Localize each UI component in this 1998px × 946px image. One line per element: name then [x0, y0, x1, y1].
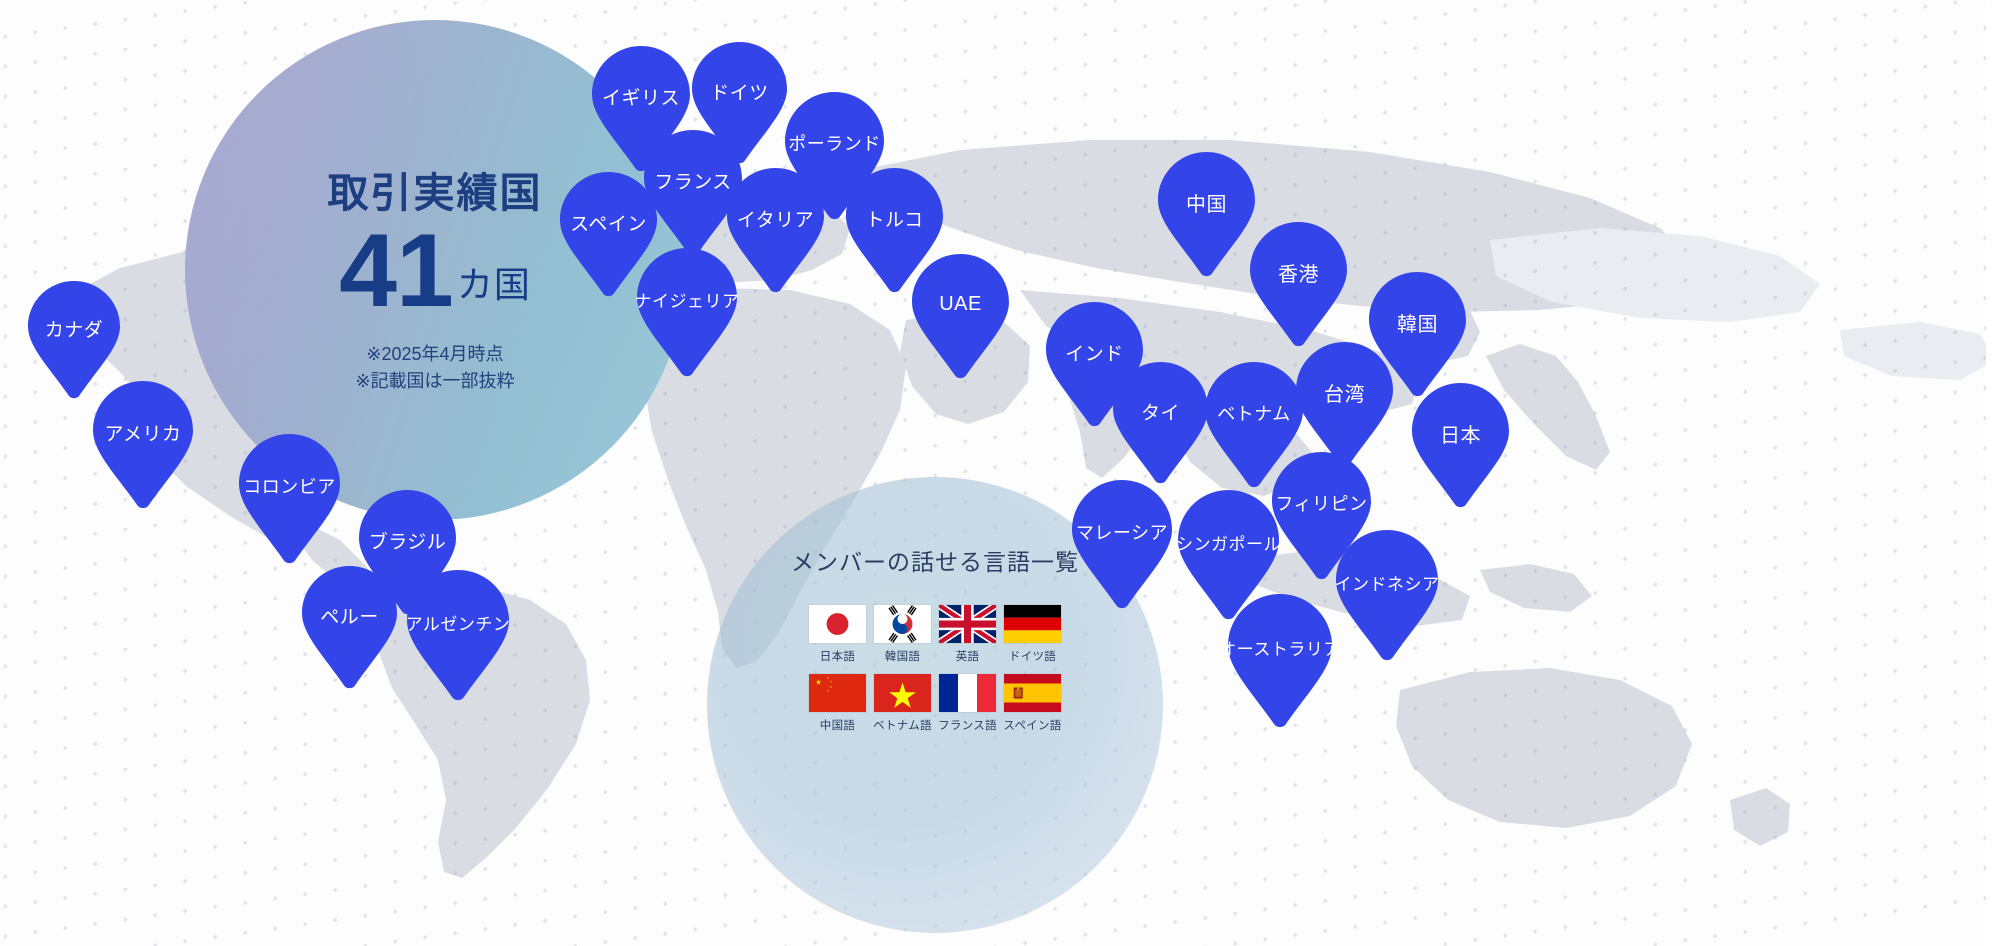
language-item-cn: 中国語 — [806, 674, 870, 733]
map-marker-icon — [1158, 152, 1255, 277]
stat-number: 41 — [339, 222, 453, 321]
right-white-margin — [1986, 0, 1998, 946]
language-item-vn: ベトナム語 — [871, 674, 935, 733]
language-label: ベトナム語 — [873, 717, 932, 733]
map-pin-香港[interactable]: 香港 — [1250, 222, 1347, 347]
language-label: 英語 — [956, 648, 980, 664]
language-flag-grid: 日本語 韓国語 英語ドイツ語 中国語 ベトナム語フランス語 — [806, 605, 1065, 733]
map-marker-icon — [637, 248, 737, 377]
gb-flag-icon — [939, 605, 996, 643]
stat-note-excerpt: ※記載国は一部抜粋 — [328, 368, 543, 395]
cn-flag-icon — [809, 674, 866, 712]
map-pin-ペルー[interactable]: ペルー — [302, 566, 397, 689]
language-item-es: スペイン語 — [1001, 674, 1065, 733]
map-pin-アルゼンチン[interactable]: アルゼンチン — [407, 570, 509, 701]
map-pin-ナイジェリア[interactable]: ナイジェリア — [637, 248, 737, 377]
global-map-infographic: 取引実績国 41 カ国 ※2025年4月時点 ※記載国は一部抜粋 メンバーの話せ… — [0, 0, 1998, 946]
map-marker-icon — [727, 168, 824, 293]
map-marker-icon — [239, 434, 340, 564]
vn-flag-icon — [874, 674, 931, 712]
fr-flag-icon — [939, 674, 996, 712]
map-pin-uae[interactable]: UAE — [912, 254, 1009, 379]
language-item-kr: 韓国語 — [871, 605, 935, 664]
language-label: 韓国語 — [885, 648, 920, 664]
map-marker-icon — [93, 381, 193, 509]
es-flag-icon — [1004, 674, 1061, 712]
map-marker-icon — [1228, 594, 1332, 728]
map-pin-マレーシア[interactable]: マレーシア — [1072, 480, 1172, 609]
map-marker-icon — [1113, 362, 1208, 484]
map-pin-中国[interactable]: 中国 — [1158, 152, 1255, 277]
language-label: 中国語 — [820, 717, 855, 733]
stat-unit: カ国 — [457, 256, 531, 321]
language-label: ドイツ語 — [1009, 648, 1056, 664]
map-pin-コロンビア[interactable]: コロンビア — [239, 434, 340, 564]
map-marker-icon — [1412, 383, 1509, 508]
language-item-de: ドイツ語 — [1001, 605, 1065, 664]
map-marker-icon — [912, 254, 1009, 379]
language-label: スペイン語 — [1003, 717, 1061, 733]
map-pin-オーストラリア[interactable]: オーストラリア — [1228, 594, 1332, 728]
language-item-gb: 英語 — [936, 605, 1000, 664]
map-marker-icon — [302, 566, 397, 689]
map-pin-アメリカ[interactable]: アメリカ — [93, 381, 193, 509]
de-flag-icon — [1004, 605, 1061, 643]
jp-flag-icon — [809, 605, 866, 643]
stat-notes: ※2025年4月時点 ※記載国は一部抜粋 — [328, 341, 543, 395]
language-list-title: メンバーの話せる言語一覧 — [791, 543, 1079, 577]
map-pin-インドネシア[interactable]: インドネシア — [1336, 530, 1438, 661]
language-item-fr: フランス語 — [936, 674, 1000, 733]
map-marker-icon — [1336, 530, 1438, 661]
map-marker-icon — [1296, 342, 1393, 467]
stat-note-date: ※2025年4月時点 — [328, 341, 543, 368]
map-pin-タイ[interactable]: タイ — [1113, 362, 1208, 484]
map-marker-icon — [407, 570, 509, 701]
map-marker-icon — [1072, 480, 1172, 609]
kr-flag-icon — [874, 605, 931, 643]
map-pin-イタリア[interactable]: イタリア — [727, 168, 824, 293]
map-marker-icon — [1250, 222, 1347, 347]
language-label: 日本語 — [820, 648, 855, 664]
stat-title: 取引実績国 — [328, 171, 543, 216]
language-item-jp: 日本語 — [806, 605, 870, 664]
language-label: フランス語 — [938, 717, 997, 733]
map-pin-台湾[interactable]: 台湾 — [1296, 342, 1393, 467]
map-pin-日本[interactable]: 日本 — [1412, 383, 1509, 508]
